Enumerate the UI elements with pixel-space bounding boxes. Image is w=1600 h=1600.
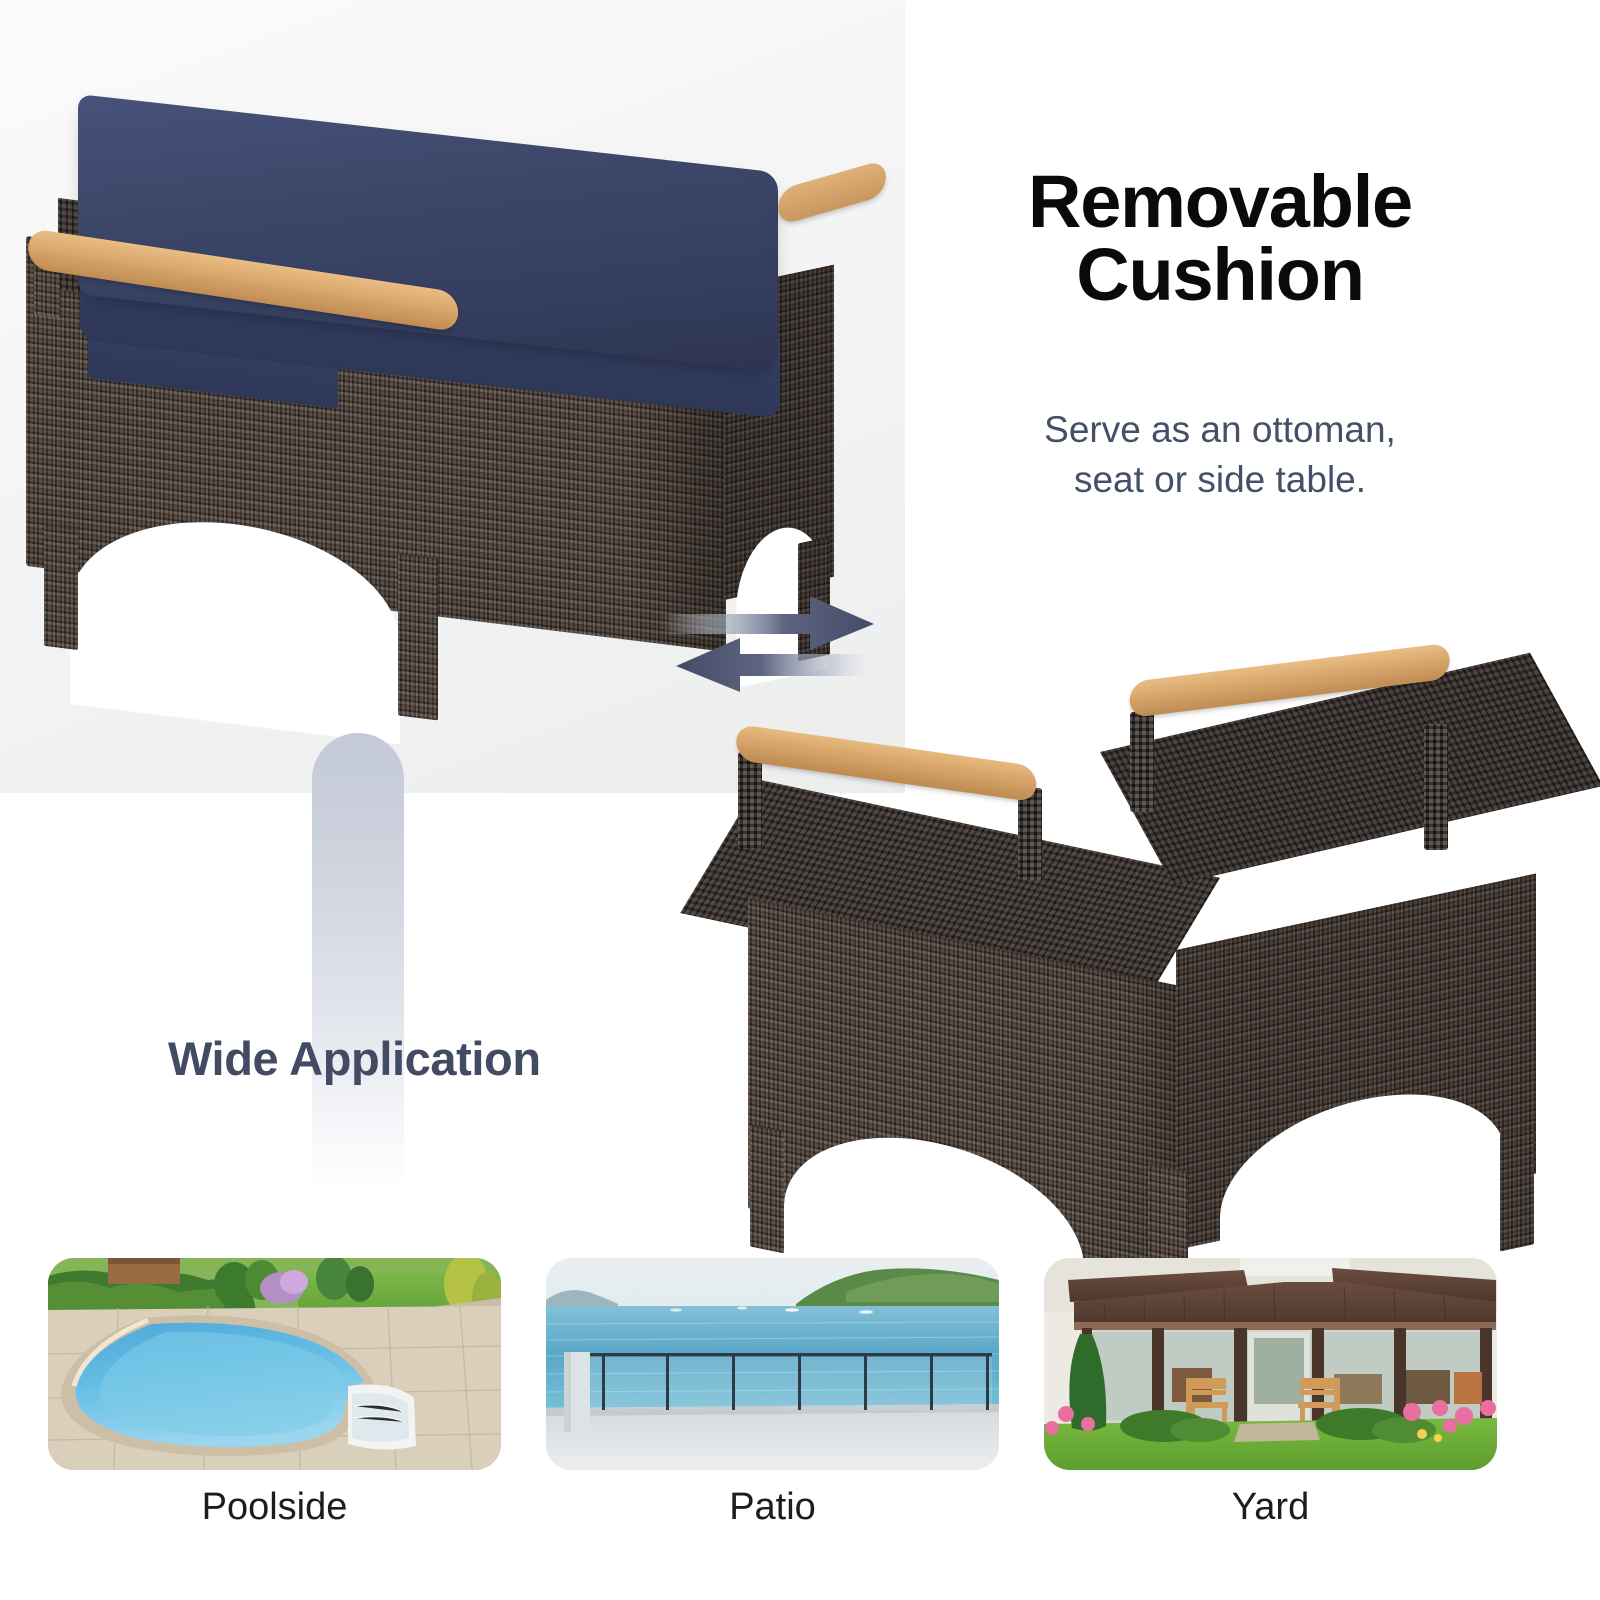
thumbnail-patio[interactable] — [546, 1258, 999, 1470]
side-table-rail-post-c — [1130, 712, 1154, 812]
subheadline-line-1: Serve as an ottoman, — [955, 405, 1485, 455]
thumbnail-poolside[interactable] — [48, 1258, 501, 1470]
thumbnail-caption-patio: Patio — [546, 1486, 999, 1529]
thumbnail-caption-poolside: Poolside — [48, 1486, 501, 1529]
use-case-thumbnail-strip: Poolside Patio Yard — [0, 1258, 1600, 1588]
side-table-rail-post-a — [738, 752, 762, 848]
product-photo-side-table — [700, 660, 1560, 1220]
side-table-leg-right — [1500, 1126, 1534, 1251]
thumbnail-caption-yard: Yard — [1044, 1486, 1497, 1529]
arrow-right-shape — [662, 596, 874, 650]
product-photo-ottoman — [18, 86, 858, 646]
ottoman-leg-left — [44, 524, 78, 650]
side-table-rail-post-b — [1018, 788, 1042, 880]
marketing-image-canvas: Wide Application Removable Cushion Serve… — [0, 0, 1600, 1600]
side-table-leg-left — [750, 1125, 784, 1254]
thumbnail-yard[interactable] — [1044, 1258, 1497, 1470]
side-table-rail-post-d — [1424, 724, 1448, 850]
subheadline: Serve as an ottoman, seat or side table. — [955, 405, 1485, 506]
headline-line-1: Removable — [955, 165, 1485, 238]
ottoman-leg-center — [398, 554, 438, 721]
wide-application-accent-bar — [312, 733, 404, 1193]
headline-line-2: Cushion — [955, 238, 1485, 311]
headline: Removable Cushion — [955, 165, 1485, 312]
subheadline-line-2: seat or side table. — [955, 455, 1485, 505]
wide-application-label: Wide Application — [168, 1031, 638, 1086]
